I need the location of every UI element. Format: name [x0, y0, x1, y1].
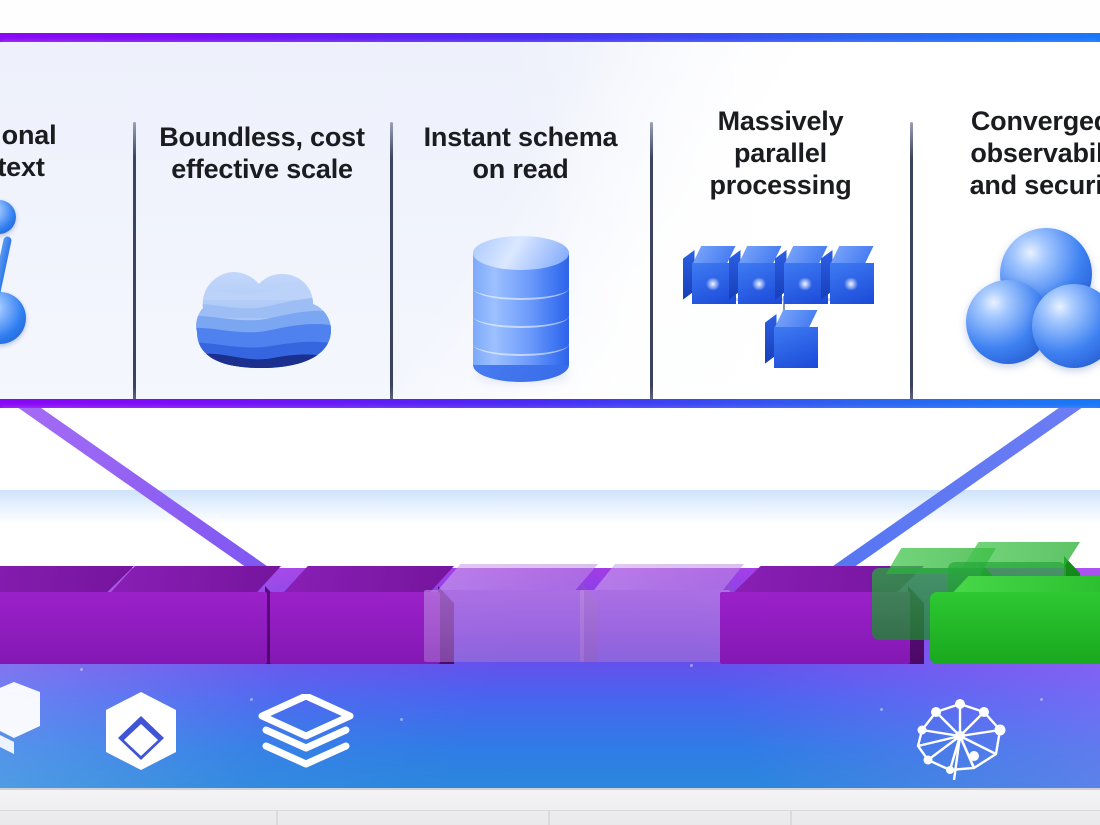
feature-cell-parallel-processing[interactable]: Massively parallel processing	[653, 42, 908, 399]
feature-title-line2: on read	[393, 154, 648, 186]
data-lake-cloud-icon	[136, 220, 388, 390]
parallel-cubes-icon	[653, 224, 908, 394]
block-purple-ghost	[580, 564, 730, 662]
feature-title-line1: Converged	[913, 106, 1100, 138]
neural-brain-icon	[900, 690, 1022, 782]
bottom-gradient-rule	[0, 399, 1100, 408]
feature-cell-relational-context[interactable]: tional text	[0, 42, 132, 399]
cloud-svg	[173, 248, 351, 372]
screenshot-stage: tional text Boundless, cost effective sc…	[0, 0, 1100, 825]
feature-title-line2: effective scale	[136, 154, 388, 186]
feature-cell-instant-schema[interactable]: Instant schema on read	[393, 42, 648, 399]
feature-cell-converged-observability[interactable]: Converged observabili and securit	[913, 42, 1100, 399]
top-white-gap	[0, 0, 1100, 33]
block-green	[930, 576, 1100, 664]
block-purple-ghost	[424, 564, 584, 662]
feature-title-line1: Instant schema	[393, 122, 648, 154]
cube-partial-icon	[0, 680, 44, 756]
feature-title-line1: tional	[0, 120, 132, 152]
feature-title-line2: parallel	[653, 138, 908, 170]
feature-title-line3: processing	[653, 170, 908, 202]
feature-title-line2: text	[0, 152, 132, 184]
block-purple	[270, 566, 440, 664]
feature-title-line1: Massively	[653, 106, 908, 138]
shield-chevron-icon	[100, 690, 182, 772]
block-row	[0, 556, 1100, 676]
feature-title-line3: and securit	[913, 170, 1100, 202]
illustration-scene	[0, 408, 1100, 825]
top-gradient-rule	[0, 33, 1100, 42]
layers-stack-icon	[258, 694, 354, 770]
feature-title-line2: observabili	[913, 138, 1100, 170]
feature-title-line1: Boundless, cost	[136, 122, 388, 154]
relational-graph-icon	[0, 192, 132, 362]
block-purple	[97, 566, 267, 664]
database-cylinder-icon	[393, 224, 648, 394]
bottom-ui-strip	[0, 788, 1100, 825]
feature-cell-boundless-scale[interactable]: Boundless, cost effective scale	[136, 42, 388, 399]
spheres-icon	[913, 220, 1100, 390]
feature-panel: tional text Boundless, cost effective sc…	[0, 42, 1100, 399]
